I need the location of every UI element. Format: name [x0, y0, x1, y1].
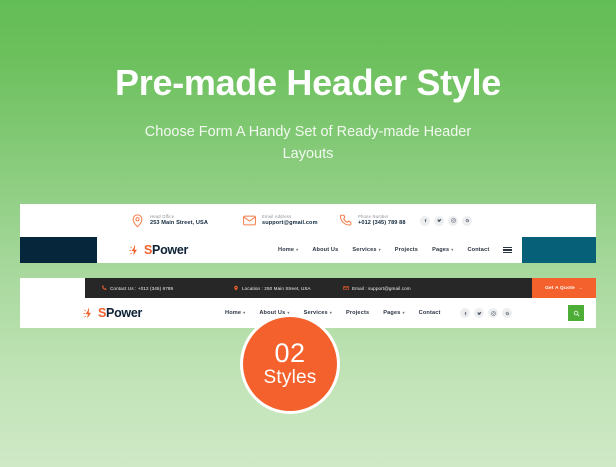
chevron-down-icon: ▾ — [243, 311, 245, 315]
page-title: Pre-made Header Style — [0, 0, 616, 104]
phone-icon — [338, 213, 353, 228]
chevron-down-icon: ▾ — [330, 311, 332, 315]
facebook-icon[interactable] — [460, 308, 470, 318]
styles-count-number: 02 — [274, 339, 305, 367]
head-office-label: Head Office — [150, 215, 208, 219]
menu-item-projects[interactable]: Projects — [395, 247, 418, 253]
get-a-quote-label: Get A Quote — [545, 286, 575, 291]
page-subtitle: Choose Form A Handy Set of Ready-made He… — [118, 104, 498, 165]
logo-accent-letter: S — [144, 243, 152, 257]
menu-item-contact[interactable]: Contact — [467, 247, 489, 253]
chevron-down-icon: ▾ — [379, 248, 381, 252]
phone-number-label: Phone Number — [358, 215, 406, 219]
menu-item-projects[interactable]: Projects — [346, 310, 369, 316]
header-two-social-links[interactable] — [460, 308, 512, 318]
logo-accent-letter: S — [98, 306, 106, 320]
contact-us-text: Contact Us : +012 (345) 6789 — [110, 286, 173, 291]
google-icon[interactable] — [502, 308, 512, 318]
head-office-info: Head Office 253 Main Street, USA — [130, 213, 208, 228]
header-two-menu[interactable]: Home ▾ About Us ▾ Services ▾ Projects Pa… — [225, 310, 441, 316]
menu-item-pages[interactable]: Pages ▾ — [432, 247, 453, 253]
chevron-down-icon: ▾ — [296, 248, 298, 252]
chevron-down-icon: ▾ — [451, 248, 453, 252]
header-one-navbar: SPower Home ▾ About Us Services ▾ Projec… — [20, 237, 596, 263]
logo-name: Power — [152, 243, 188, 257]
map-pin-icon — [130, 213, 145, 228]
hero-section: Pre-made Header Style Choose Form A Hand… — [0, 0, 616, 165]
email-address-info: Email Address support@gmail.com — [242, 213, 318, 228]
lightning-bolt-icon — [82, 307, 95, 320]
contact-us-info: Contact Us : +012 (345) 6789 — [101, 285, 173, 291]
phone-number-info: Phone Number +012 (345) 789 88 — [338, 213, 406, 228]
styles-count-badge: 02 Styles — [240, 314, 340, 414]
header-style-one-mockup[interactable]: Head Office 253 Main Street, USA Email A… — [20, 204, 596, 263]
menu-item-home[interactable]: Home ▾ — [278, 247, 298, 253]
location-text: Location : 250 Main Street, USA — [242, 286, 311, 291]
phone-icon — [101, 285, 107, 291]
promo-banner: Pre-made Header Style Choose Form A Hand… — [0, 0, 616, 467]
map-pin-icon — [233, 285, 239, 291]
header-two-topbar: Contact Us : +012 (345) 6789 Location : … — [85, 278, 596, 298]
styles-count-label: Styles — [264, 367, 317, 389]
instagram-icon[interactable] — [448, 216, 458, 226]
twitter-icon[interactable] — [434, 216, 444, 226]
site-logo[interactable]: SPower — [82, 307, 142, 320]
arrow-right-icon: → — [578, 286, 583, 291]
envelope-icon — [242, 213, 257, 228]
menu-item-home[interactable]: Home ▾ — [225, 310, 245, 316]
location-info: Location : 250 Main Street, USA — [233, 285, 311, 291]
header-one-social-links[interactable] — [420, 216, 472, 226]
email-text: Email : support@gmail.com — [352, 286, 411, 291]
lightning-bolt-icon — [128, 244, 141, 257]
menu-item-contact[interactable]: Contact — [419, 310, 441, 316]
menu-item-services[interactable]: Services ▾ — [352, 247, 380, 253]
phone-number-value: +012 (345) 789 88 — [358, 221, 406, 227]
facebook-icon[interactable] — [420, 216, 430, 226]
email-info: Email : support@gmail.com — [343, 285, 411, 291]
logo-name: Power — [106, 306, 142, 320]
menu-item-about-us[interactable]: About Us — [312, 247, 338, 253]
get-a-quote-button[interactable]: Get A Quote → — [532, 278, 596, 298]
twitter-icon[interactable] — [474, 308, 484, 318]
menu-item-services[interactable]: Services ▾ — [304, 310, 332, 316]
envelope-icon — [343, 285, 349, 291]
search-button[interactable] — [568, 305, 584, 321]
navbar-left-accent-block — [20, 237, 97, 263]
google-icon[interactable] — [462, 216, 472, 226]
head-office-value: 253 Main Street, USA — [150, 221, 208, 227]
hamburger-menu-icon[interactable] — [503, 247, 512, 253]
email-address-label: Email Address — [262, 215, 318, 219]
header-one-menu[interactable]: Home ▾ About Us Services ▾ Projects Page… — [278, 247, 512, 253]
chevron-down-icon: ▾ — [402, 311, 404, 315]
menu-item-pages[interactable]: Pages ▾ — [383, 310, 404, 316]
email-address-value: support@gmail.com — [262, 221, 318, 227]
site-logo[interactable]: SPower — [128, 244, 188, 257]
header-one-topbar: Head Office 253 Main Street, USA Email A… — [20, 204, 596, 237]
search-icon — [573, 310, 580, 317]
navbar-right-accent-block — [522, 237, 596, 263]
instagram-icon[interactable] — [488, 308, 498, 318]
